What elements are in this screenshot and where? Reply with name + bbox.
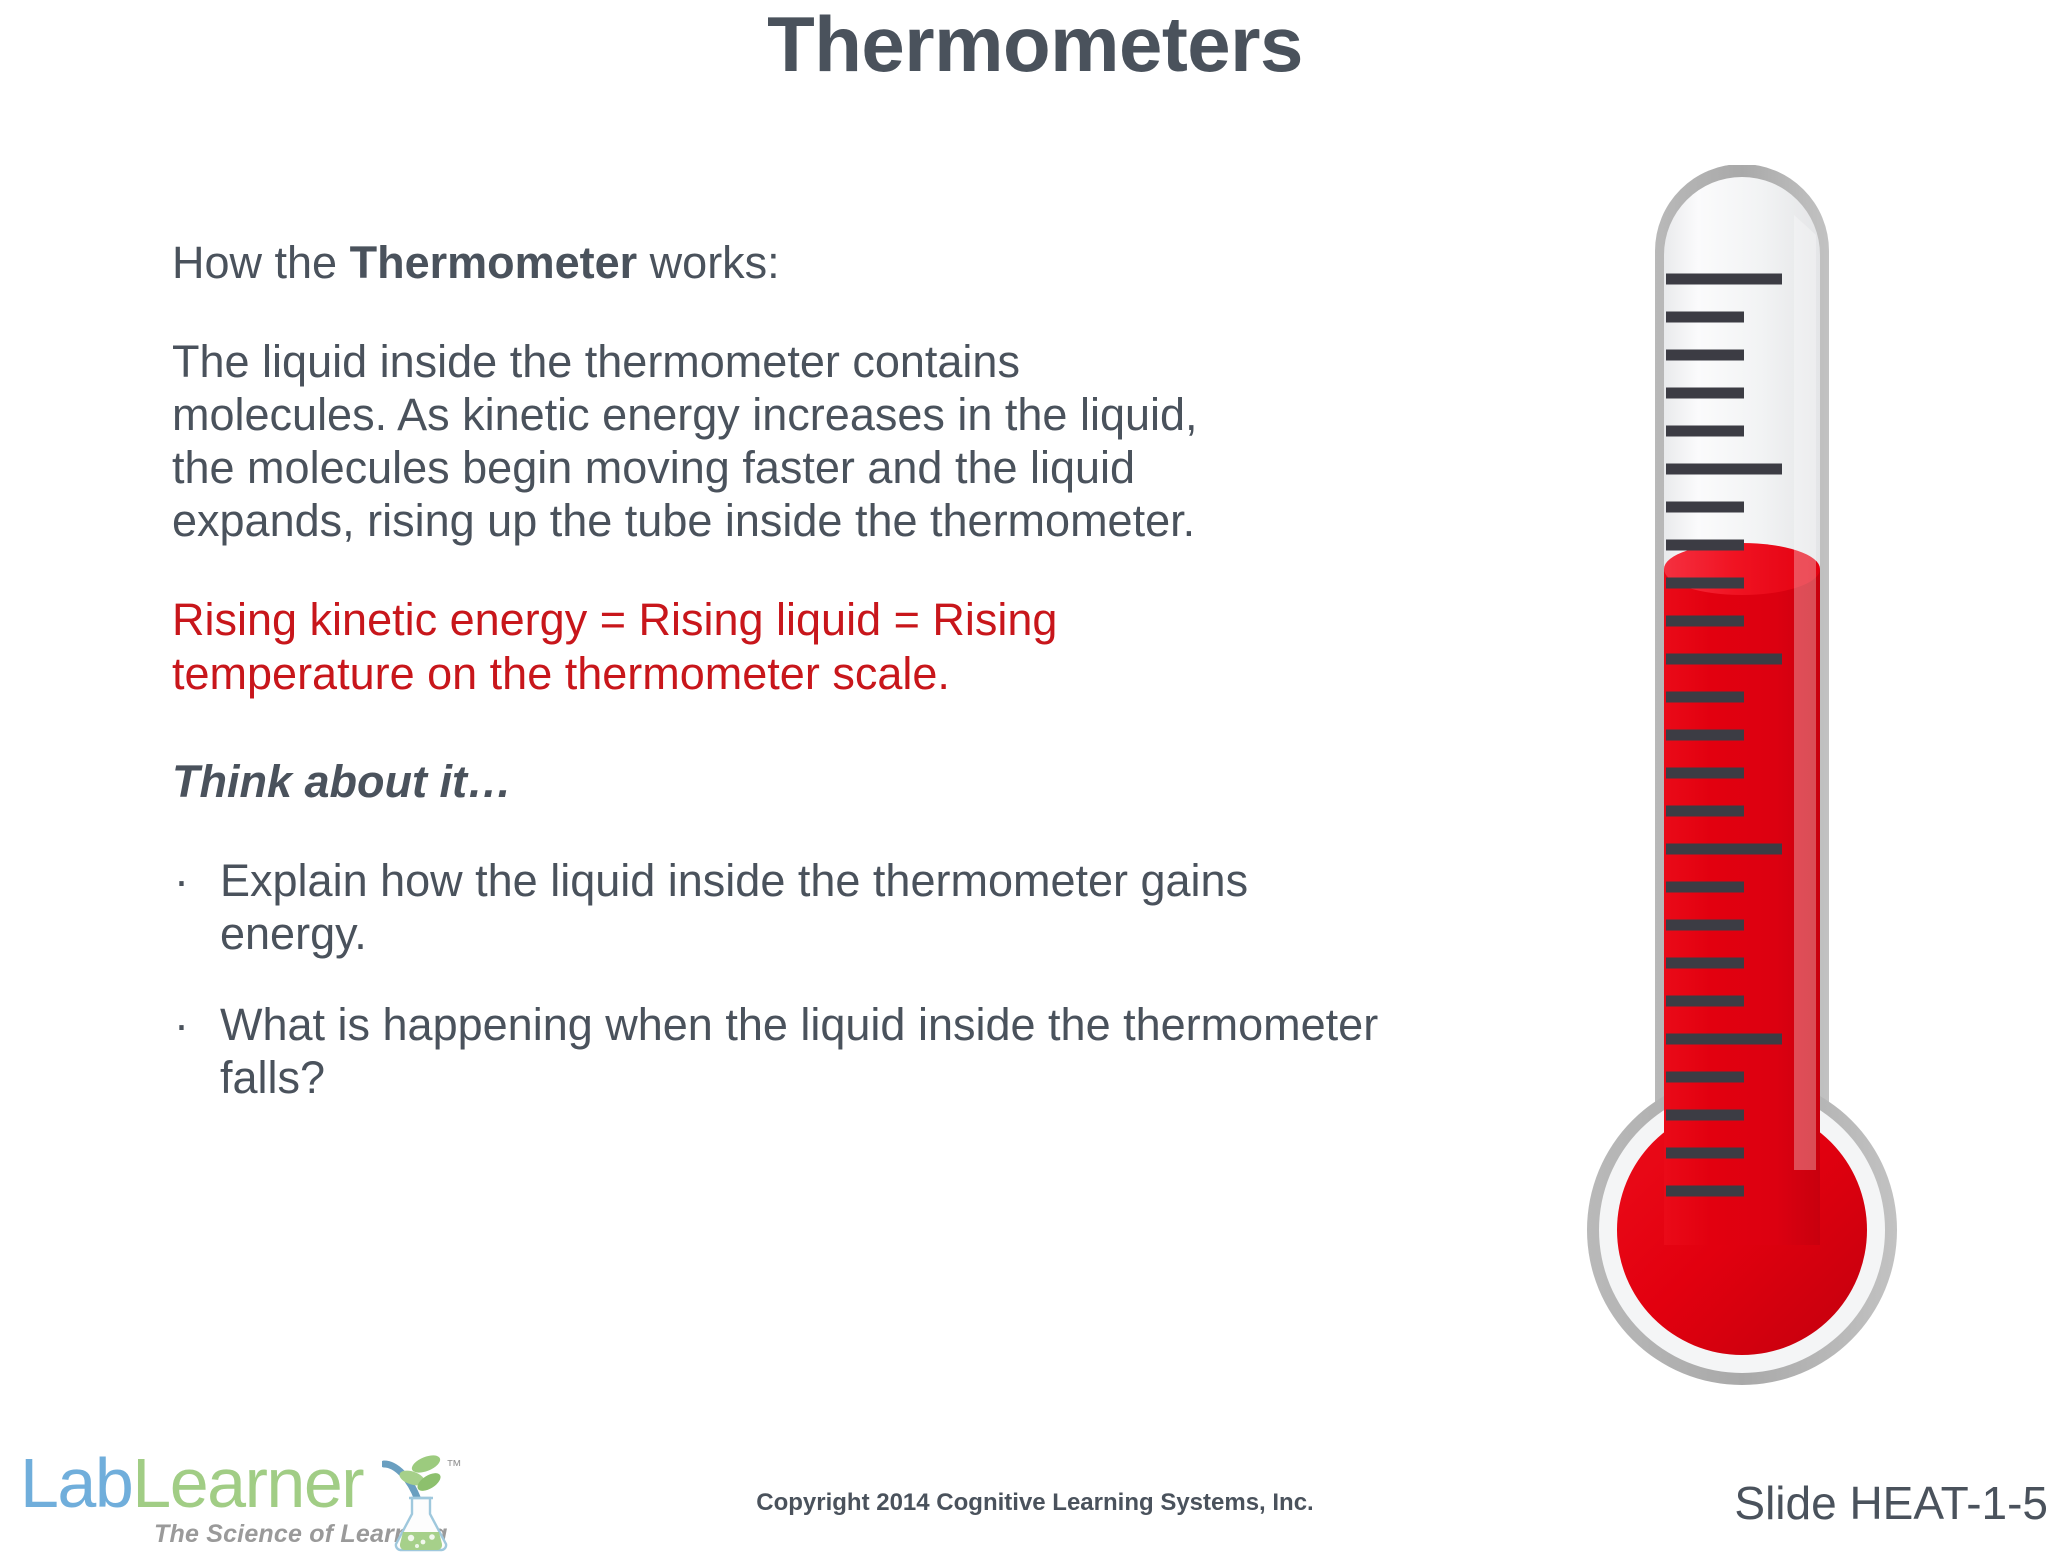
list-item: · Explain how the liquid inside the ther… [172, 854, 1400, 960]
intro-bold-term: Thermometer [350, 237, 638, 288]
trademark-mark: ™ [446, 1458, 462, 1476]
list-item: · What is happening when the liquid insi… [172, 998, 1400, 1104]
flask-bubble [429, 1534, 435, 1540]
emphasis-paragraph: Rising kinetic energy = Rising liquid = … [172, 593, 1232, 699]
thermometer-illustration [1580, 165, 1900, 1395]
flask-bubble [408, 1535, 414, 1541]
bullet-icon: · [174, 998, 189, 1051]
think-about-it-heading: Think about it… [172, 756, 1382, 808]
page-title: Thermometers [0, 4, 2070, 86]
thermometer-svg [1580, 165, 1900, 1395]
list-item-label: What is happening when the liquid inside… [220, 999, 1378, 1103]
list-item-label: Explain how the liquid inside the thermo… [220, 855, 1248, 959]
slide-number-label: Slide HEAT-1-5 [1734, 1476, 2048, 1530]
intro-prefix: How the [172, 237, 350, 288]
slide-body-content: How the Thermometer works: The liquid in… [172, 236, 1382, 1142]
intro-suffix: works: [637, 237, 780, 288]
flask-bubble [421, 1540, 426, 1545]
bullet-icon: · [174, 854, 189, 907]
explanation-paragraph: The liquid inside the thermometer contai… [172, 335, 1232, 547]
question-list: · Explain how the liquid inside the ther… [172, 854, 1382, 1104]
intro-line: How the Thermometer works: [172, 236, 1382, 289]
tube-highlight [1794, 215, 1816, 1170]
flask-bubble [415, 1544, 419, 1548]
thermometer-liquid [1617, 543, 1867, 1355]
